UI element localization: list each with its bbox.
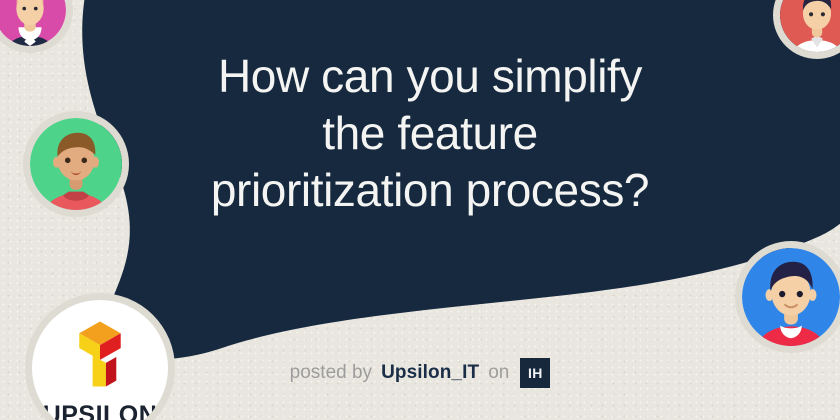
posted-by-label: posted by	[290, 362, 372, 384]
question-card: How can you simplify the feature priorit…	[0, 0, 840, 420]
indie-hackers-badge-icon[interactable]: IH	[520, 358, 550, 388]
avatar-mid-left	[30, 118, 122, 210]
connector-label: on	[488, 362, 509, 384]
page-title: How can you simplify the feature priorit…	[180, 48, 680, 219]
upsilon-wordmark: UPSILON	[43, 401, 158, 420]
upsilon-logo[interactable]: UPSILON	[32, 300, 168, 420]
author-name[interactable]: Upsilon_IT	[381, 362, 479, 384]
upsilon-y-logo-icon	[63, 317, 137, 396]
avatar-bottom-right	[742, 248, 840, 346]
